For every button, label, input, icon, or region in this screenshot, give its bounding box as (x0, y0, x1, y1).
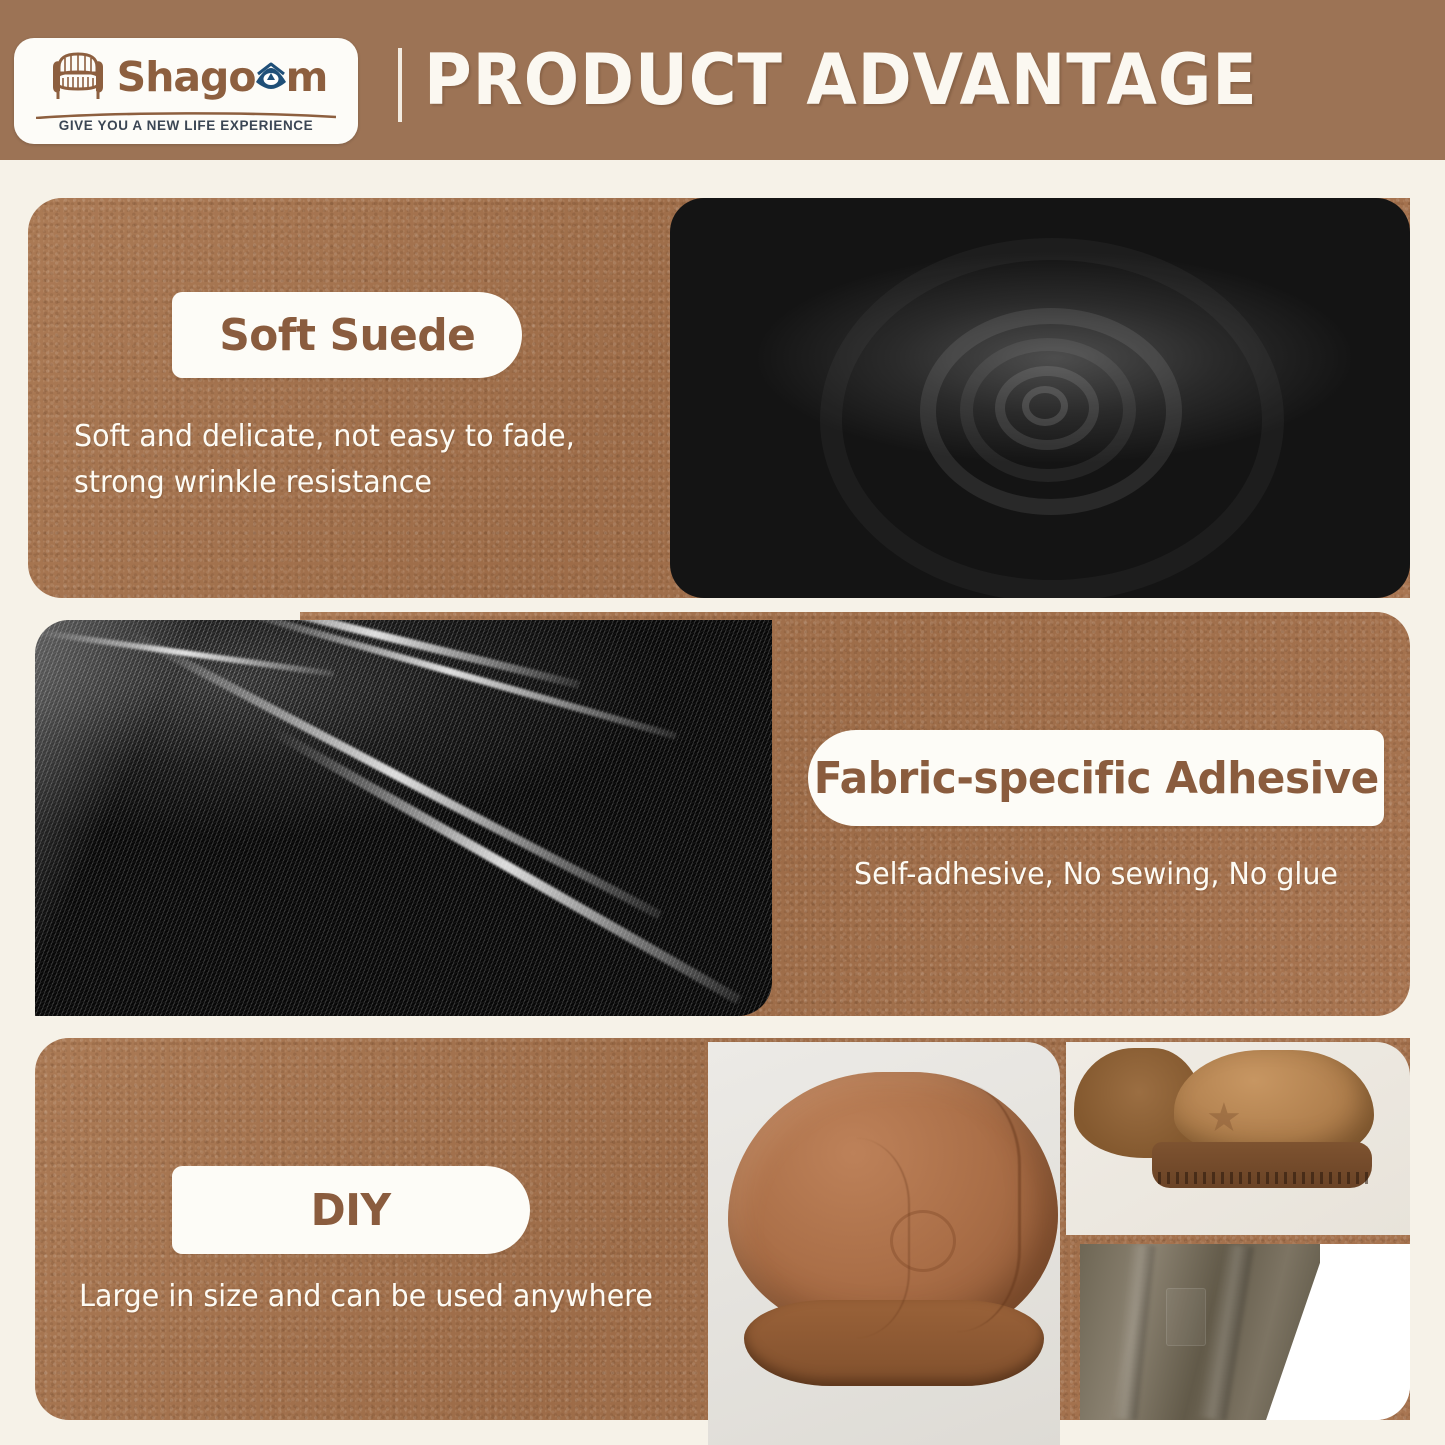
brand-tagline: GIVE YOU A NEW LIFE EXPERIENCE (14, 118, 358, 133)
brand-logo-card: Shago m GIVE YOU A NEW LIFE EXPERIENCE (14, 38, 358, 144)
sofa-icon (45, 51, 111, 103)
feature-label-adhesive: Fabric-specific Adhesive (813, 753, 1378, 804)
brand-wordmark: Shago m (117, 57, 328, 98)
feature-label-pill-adhesive: Fabric-specific Adhesive (808, 730, 1384, 826)
feature-label-pill-diy: DIY (172, 1166, 530, 1254)
black-suede-swirl-fabric-photo (670, 198, 1410, 598)
feature-description-soft-suede: Soft and delicate, not easy to fade, str… (74, 414, 635, 506)
feature-description-diy: Large in size and can be used anywhere (64, 1274, 668, 1320)
eye-logo-glyph (254, 62, 288, 92)
feature-description-line-1: Large in size and can be used anywhere (64, 1274, 668, 1320)
page-title: PRODUCT ADVANTAGE (424, 36, 1354, 124)
feature-description-adhesive: Self-adhesive, No sewing, No glue (822, 852, 1369, 898)
feature-description-line-1: Self-adhesive, No sewing, No glue (822, 852, 1369, 898)
brand-name-part1: Shago (117, 57, 256, 98)
feature-label-diy: DIY (311, 1185, 391, 1236)
feature-label-soft-suede: Soft Suede (219, 310, 475, 361)
logo-row: Shago m (14, 46, 358, 108)
header-divider (398, 48, 402, 122)
header-band: Shago m GIVE YOU A NEW LIFE EXPERIENCE P… (0, 0, 1445, 160)
feature-label-pill-soft-suede: Soft Suede (172, 292, 522, 378)
black-suede-adhesive-closeup-photo (35, 620, 772, 1016)
star-emboss-icon: ★ (1206, 1098, 1242, 1138)
feature-description-line-1: Soft and delicate, not easy to fade, (74, 414, 635, 460)
feature-description-line-2: strong wrinkle resistance (74, 460, 635, 506)
tan-suede-platform-slipper-photo: ★ (1066, 1042, 1410, 1235)
product-advantage-poster: Shago m GIVE YOU A NEW LIFE EXPERIENCE P… (0, 0, 1445, 1445)
brand-name-part2: m (286, 57, 328, 98)
tan-suede-flat-cap-photo (708, 1042, 1060, 1445)
olive-suede-garment-photo (1080, 1244, 1410, 1420)
